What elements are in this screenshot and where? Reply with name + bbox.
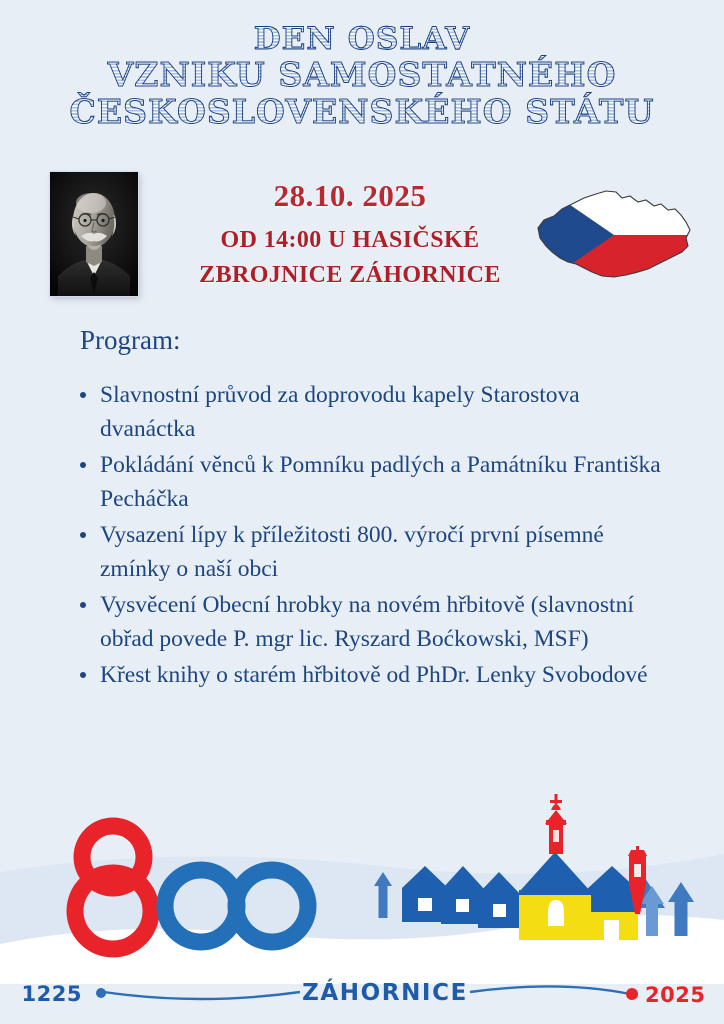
program-heading: Program: bbox=[80, 325, 181, 356]
anniversary-footer-artwork: 1225 ZÁHORNICE 2025 bbox=[0, 794, 724, 1024]
czech-map-svg bbox=[528, 176, 700, 294]
poster-canvas: DEN OSLAV VZNIKU SAMOSTATNÉHO ČESKOSLOVE… bbox=[0, 0, 724, 1024]
timeline-end-dot bbox=[626, 988, 638, 1000]
program-item: Vysazení lípy k příležitosti 800. výročí… bbox=[72, 518, 672, 586]
church-steeple bbox=[545, 794, 567, 854]
event-venue-line-1: OD 14:00 U HASIČSKÉ bbox=[148, 227, 552, 254]
czech-republic-flag-map-icon bbox=[528, 176, 700, 294]
program-item: Křest knihy o starém hřbitově od PhDr. L… bbox=[72, 658, 672, 692]
timeline-start-year: 1225 bbox=[22, 982, 82, 1006]
church-icon bbox=[519, 794, 591, 940]
program-list: Slavnostní průvod za doprovodu kapely St… bbox=[72, 378, 672, 694]
title-line-2: VZNIKU SAMOSTATNÉHO bbox=[0, 57, 724, 94]
church-window bbox=[548, 900, 564, 926]
program-item: Slavnostní průvod za doprovodu kapely St… bbox=[72, 378, 672, 446]
event-venue-line-2: ZBROJNICE ZÁHORNICE bbox=[148, 262, 552, 289]
timeline-town-name: ZÁHORNICE bbox=[302, 978, 468, 1006]
timeline-line-left bbox=[104, 992, 300, 999]
program-item: Vysvěcení Obecní hrobky na novém hřbitov… bbox=[72, 588, 672, 656]
timeline-line-right bbox=[470, 986, 630, 994]
poster-title: DEN OSLAV VZNIKU SAMOSTATNÉHO ČESKOSLOVE… bbox=[0, 22, 724, 131]
portrait-illustration bbox=[50, 172, 138, 296]
program-item: Pokládání věnců k Pomníku padlých a Pamá… bbox=[72, 448, 672, 516]
event-details: 28.10. 2025 OD 14:00 U HASIČSKÉ ZBROJNIC… bbox=[148, 178, 552, 289]
event-date: 28.10. 2025 bbox=[148, 178, 552, 214]
map-flag-fill bbox=[528, 176, 700, 294]
title-line-3: ČESKOSLOVENSKÉHO STÁTU bbox=[0, 94, 724, 131]
timeline-start-dot bbox=[96, 988, 106, 998]
title-line-1: DEN OSLAV bbox=[0, 22, 724, 57]
village-scene bbox=[374, 794, 694, 940]
masaryk-portrait bbox=[50, 172, 138, 296]
timeline-end-year: 2025 bbox=[645, 983, 705, 1007]
footer-svg: 1225 ZÁHORNICE 2025 bbox=[0, 794, 724, 1024]
